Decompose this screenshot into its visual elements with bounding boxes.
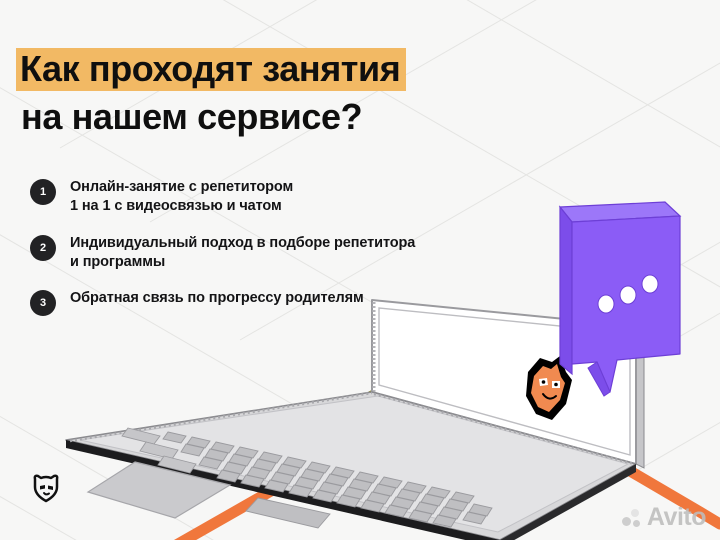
step-text-line2: 1 на 1 с видеосвязью и чатом [70,197,293,216]
steps-list: 1 Онлайн-занятие с репетитором 1 на 1 с … [30,178,500,333]
step-text-line1: Индивидуальный подход в подборе репетито… [70,235,415,251]
list-item: 2 Индивидуальный подход в подборе репети… [30,234,500,273]
title-line-highlighted: Как проходят занятия [16,48,406,91]
step-badge: 1 [30,179,56,205]
step-badge: 2 [30,235,56,261]
title-line-second: на нашем сервисе? [20,99,406,135]
step-text-line1: Онлайн-занятие с репетитором [70,179,293,195]
step-text: Индивидуальный подход в подборе репетито… [70,234,415,273]
list-item: 1 Онлайн-занятие с репетитором 1 на 1 с … [30,178,500,217]
step-text: Обратная связь по прогрессу родителям [70,289,364,308]
step-badge: 3 [30,290,56,316]
list-item: 3 Обратная связь по прогрессу родителям [30,289,500,316]
step-text: Онлайн-занятие с репетитором 1 на 1 с ви… [70,178,293,217]
step-text-line2: и программы [70,253,415,272]
bear-head-logo [30,472,62,504]
page-title: Как проходят занятия на нашем сервисе? [20,48,406,135]
step-text-line1: Обратная связь по прогрессу родителям [70,290,364,306]
avito-watermark: Avito [622,505,706,530]
avito-dots-icon [622,508,644,528]
poster-canvas: Как проходят занятия на нашем сервисе? 1… [0,0,720,540]
avito-wordmark: Avito [647,505,706,530]
